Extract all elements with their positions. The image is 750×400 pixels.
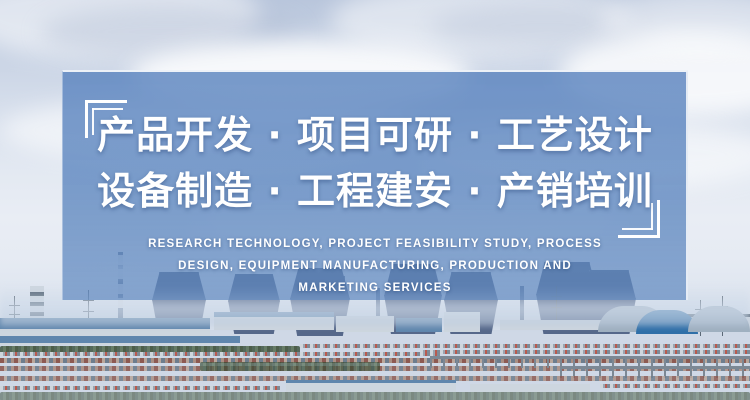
tree-line [0,392,750,400]
parking-lot-row [0,352,440,356]
subtitle-line-3: MARKETING SERVICES [125,277,625,299]
banner-image: 产品开发 · 项目可研 · 工艺设计 设备制造 · 工程建安 · 产销培训 RE… [0,0,750,400]
parking-lot-row [600,384,750,388]
elevated-roadway [560,366,750,369]
subtitle-line-1: RESEARCH TECHNOLOGY, PROJECT FEASIBILITY… [125,233,625,255]
tree-line [200,362,380,371]
parking-lot-row [300,344,750,348]
low-building-roof [286,380,456,383]
elevated-roadway [430,356,750,359]
subtitle-line-2: DESIGN, EQUIPMENT MANUFACTURING, PRODUCT… [125,255,625,277]
parking-lot-row [0,386,280,390]
low-building [286,382,456,392]
headline-line-1: 产品开发 · 项目可研 · 工艺设计 [62,112,688,158]
low-building [470,384,590,392]
factory-roof [0,336,240,343]
headline-line-2: 设备制造 · 工程建安 · 产销培训 [62,168,688,214]
parking-lot-row [420,350,750,354]
